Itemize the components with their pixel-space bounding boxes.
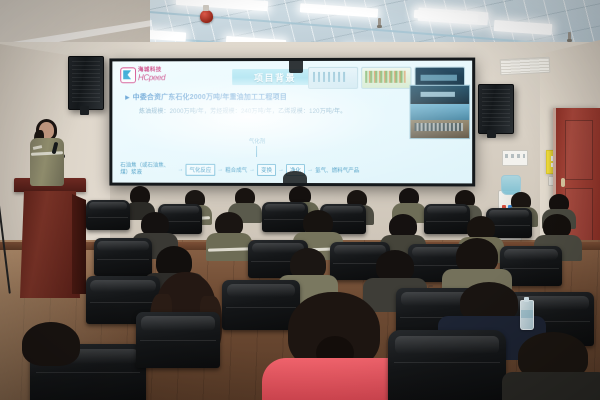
sprinkler-head xyxy=(568,32,571,40)
pip-frame-bottom xyxy=(410,120,469,138)
attendee-foreground xyxy=(276,292,394,400)
slide-title-banner: 项目背景 xyxy=(232,69,318,85)
conference-chair xyxy=(86,200,130,230)
flow-input-label: 石油焦（或石油焦、煤）浆液 xyxy=(120,163,175,177)
company-logo: 海城科技 HCpeed xyxy=(120,67,165,83)
conference-chair xyxy=(388,330,506,400)
sprinkler-head xyxy=(378,18,381,26)
presenter-jacket xyxy=(30,138,64,186)
wall-speaker-right xyxy=(478,84,514,134)
silhouette-head-shadow xyxy=(283,171,307,183)
presenter-at-podium xyxy=(26,122,68,184)
slide-content: 海城科技 HCpeed 项目背景 ▶ 中委合资广东石 xyxy=(112,61,472,184)
flow-top-label: 气化剂 xyxy=(237,137,277,145)
conference-room-scene: 海城科技 HCpeed 项目背景 ▶ 中委合资广东石 xyxy=(0,0,600,400)
flow-step-syngas: 粗合成气 xyxy=(225,166,247,174)
picture-in-picture-video xyxy=(409,85,470,139)
flow-arrow-icon: → xyxy=(178,167,184,173)
attendee-shoulders xyxy=(502,372,600,400)
door-upper-panel xyxy=(565,120,593,180)
flow-arrow-icon: → xyxy=(307,167,313,173)
speaker-bracket-right xyxy=(487,130,496,138)
fire-alarm-dome-icon xyxy=(200,10,213,23)
door-knob[interactable] xyxy=(561,178,565,187)
projection-screen[interactable]: 海城科技 HCpeed 项目背景 ▶ 中委合资广东石 xyxy=(109,58,475,187)
slide-bullet-text: 中委合资广东石化2000万吨/年重油加工工程项目 xyxy=(133,93,287,102)
pip-frame-top xyxy=(410,86,469,103)
attendee-foreground xyxy=(16,322,86,382)
projector-shadow-artifact xyxy=(289,61,303,73)
wooden-podium xyxy=(14,178,86,298)
hc-logo-icon xyxy=(120,67,136,83)
wall-notice-board xyxy=(502,150,528,166)
screen-surface: 海城科技 HCpeed 项目背景 ▶ 中委合资广东石 xyxy=(112,61,472,184)
attendee xyxy=(212,212,246,252)
podium-front-panel xyxy=(20,191,80,298)
pip-frame-middle xyxy=(410,104,469,120)
conference-chair xyxy=(94,238,152,276)
flow-step-gasification: 气化反应 xyxy=(185,164,215,176)
wall-speaker-left xyxy=(68,56,104,110)
air-vent-grille xyxy=(500,57,551,76)
flow-step-products: 氢气、燃料气产品 xyxy=(315,166,359,174)
attendee-hair xyxy=(22,322,80,366)
water-bottle[interactable] xyxy=(520,300,534,330)
attendee-foreground xyxy=(512,332,596,400)
podium-side-panel xyxy=(72,194,86,294)
flow-step-shift: 变换 xyxy=(257,164,276,176)
flow-arrow-icon: → xyxy=(217,167,223,173)
bullet-marker-icon: ▶ xyxy=(125,93,130,103)
speaker-bracket-left xyxy=(80,106,89,115)
conference-chair xyxy=(136,312,220,368)
flow-arrow-icon: → xyxy=(249,167,255,173)
thumb-facility-aerial xyxy=(361,67,411,89)
logo-english-name: HCpeed xyxy=(138,74,165,82)
flow-arrow-icon: → xyxy=(278,167,284,173)
thumb-plant-diagram xyxy=(308,67,358,89)
